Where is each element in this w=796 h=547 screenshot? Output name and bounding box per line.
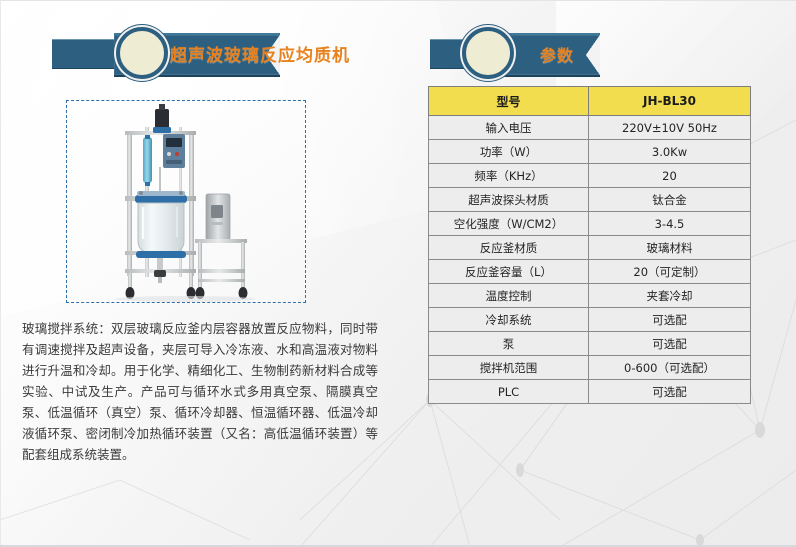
table-row: 反应釜材质玻璃材料 [429, 236, 751, 260]
spec-value-cell: 玻璃材料 [589, 236, 751, 260]
spec-label-cell: 泵 [429, 332, 589, 356]
spec-value-cell: 0-600（可选配） [589, 356, 751, 380]
product-description: 玻璃搅拌系统：双层玻璃反应釜内层容器放置反应物料，同时带有调速搅拌及超声设备，夹… [22, 318, 378, 465]
table-row: 反应釜容量（L）20（可定制） [429, 260, 751, 284]
table-body: 输入电压220V±10V 50Hz功率（W）3.0Kw频率（KHz）20超声波探… [429, 116, 751, 404]
spec-label-cell: 频率（KHz） [429, 164, 589, 188]
left-section-title: 超声波玻璃反应均质机 [170, 41, 350, 66]
right-section-banner: 参数 [430, 30, 630, 76]
spec-value-cell: 可选配 [589, 308, 751, 332]
product-photo-frame [66, 100, 306, 303]
page-frame-left [0, 0, 1, 547]
spec-value-cell: 可选配 [589, 380, 751, 404]
right-section-title: 参数 [540, 42, 574, 66]
spec-value-cell: 钛合金 [589, 188, 751, 212]
specification-table: 型号 JH-BL30 输入电压220V±10V 50Hz功率（W）3.0Kw频率… [428, 86, 751, 404]
table-row: 输入电压220V±10V 50Hz [429, 116, 751, 140]
spec-label-cell: PLC [429, 380, 589, 404]
table-row: 温度控制夹套冷却 [429, 284, 751, 308]
spec-value-cell: 3.0Kw [589, 140, 751, 164]
spec-value-cell: 夹套冷却 [589, 284, 751, 308]
table-row: 超声波探头材质钛合金 [429, 188, 751, 212]
glass-reactor-photo [67, 101, 305, 302]
table-row: PLC可选配 [429, 380, 751, 404]
spec-label-cell: 超声波探头材质 [429, 188, 589, 212]
spec-label-cell: 温度控制 [429, 284, 589, 308]
table-row: 功率（W）3.0Kw [429, 140, 751, 164]
table-row: 冷却系统可选配 [429, 308, 751, 332]
spec-label-cell: 空化强度（W/CM2） [429, 212, 589, 236]
ribbon-circle-icon [116, 27, 168, 79]
spec-value-cell: 20（可定制） [589, 260, 751, 284]
spec-label-cell: 输入电压 [429, 116, 589, 140]
spec-value-cell: 20 [589, 164, 751, 188]
spec-label-cell: 搅拌机范围 [429, 356, 589, 380]
spec-value-cell: 3-4.5 [589, 212, 751, 236]
spec-label-cell: 反应釜材质 [429, 236, 589, 260]
spec-value-cell: 可选配 [589, 332, 751, 356]
table-header-cell: 型号 [429, 87, 589, 116]
page-frame-top [0, 0, 796, 1]
table-row: 泵可选配 [429, 332, 751, 356]
table-header-cell: JH-BL30 [589, 87, 751, 116]
ribbon-circle-icon [462, 27, 514, 79]
table-row: 搅拌机范围0-600（可选配） [429, 356, 751, 380]
spec-label-cell: 反应釜容量（L） [429, 260, 589, 284]
spec-value-cell: 220V±10V 50Hz [589, 116, 751, 140]
table-row: 空化强度（W/CM2）3-4.5 [429, 212, 751, 236]
spec-label-cell: 功率（W） [429, 140, 589, 164]
page-root: 超声波玻璃反应均质机 [0, 0, 796, 547]
spec-label-cell: 冷却系统 [429, 308, 589, 332]
left-section-banner: 超声波玻璃反应均质机 [52, 30, 372, 76]
table-row: 频率（KHz）20 [429, 164, 751, 188]
table-header-row: 型号 JH-BL30 [429, 87, 751, 116]
